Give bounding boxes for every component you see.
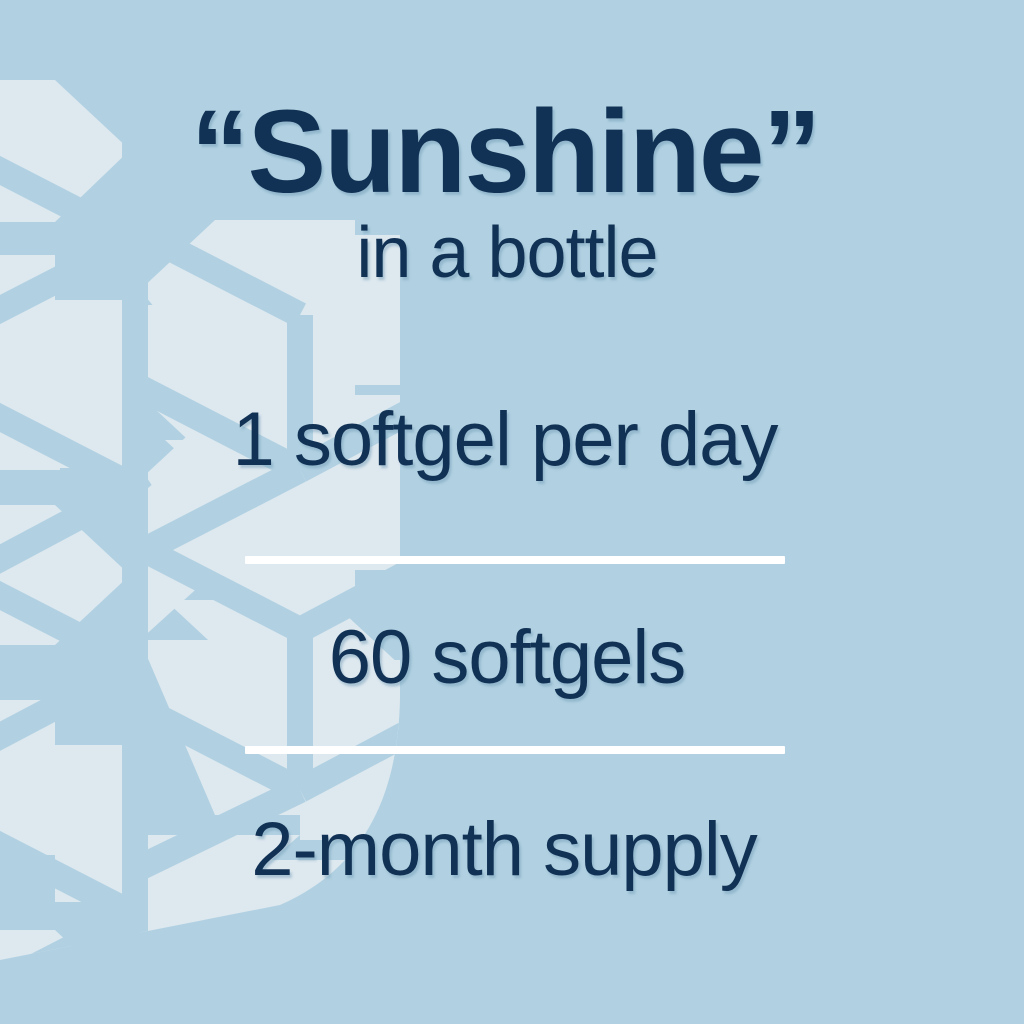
headline-block: “Sunshine” in a bottle [0, 92, 1024, 291]
divider-above-count [245, 556, 785, 564]
page-title: “Sunshine” [0, 92, 1024, 212]
fact-supply-duration: 2-month supply [0, 806, 1024, 893]
product-benefit-card: “Sunshine” in a bottle 1 softgel per day… [0, 0, 1024, 1024]
fact-dosage: 1 softgel per day [0, 396, 1024, 483]
card-content: “Sunshine” in a bottle 1 softgel per day… [0, 0, 1024, 1024]
page-subtitle: in a bottle [0, 216, 1024, 291]
divider-below-count [245, 746, 785, 754]
fact-count: 60 softgels [0, 614, 1024, 701]
